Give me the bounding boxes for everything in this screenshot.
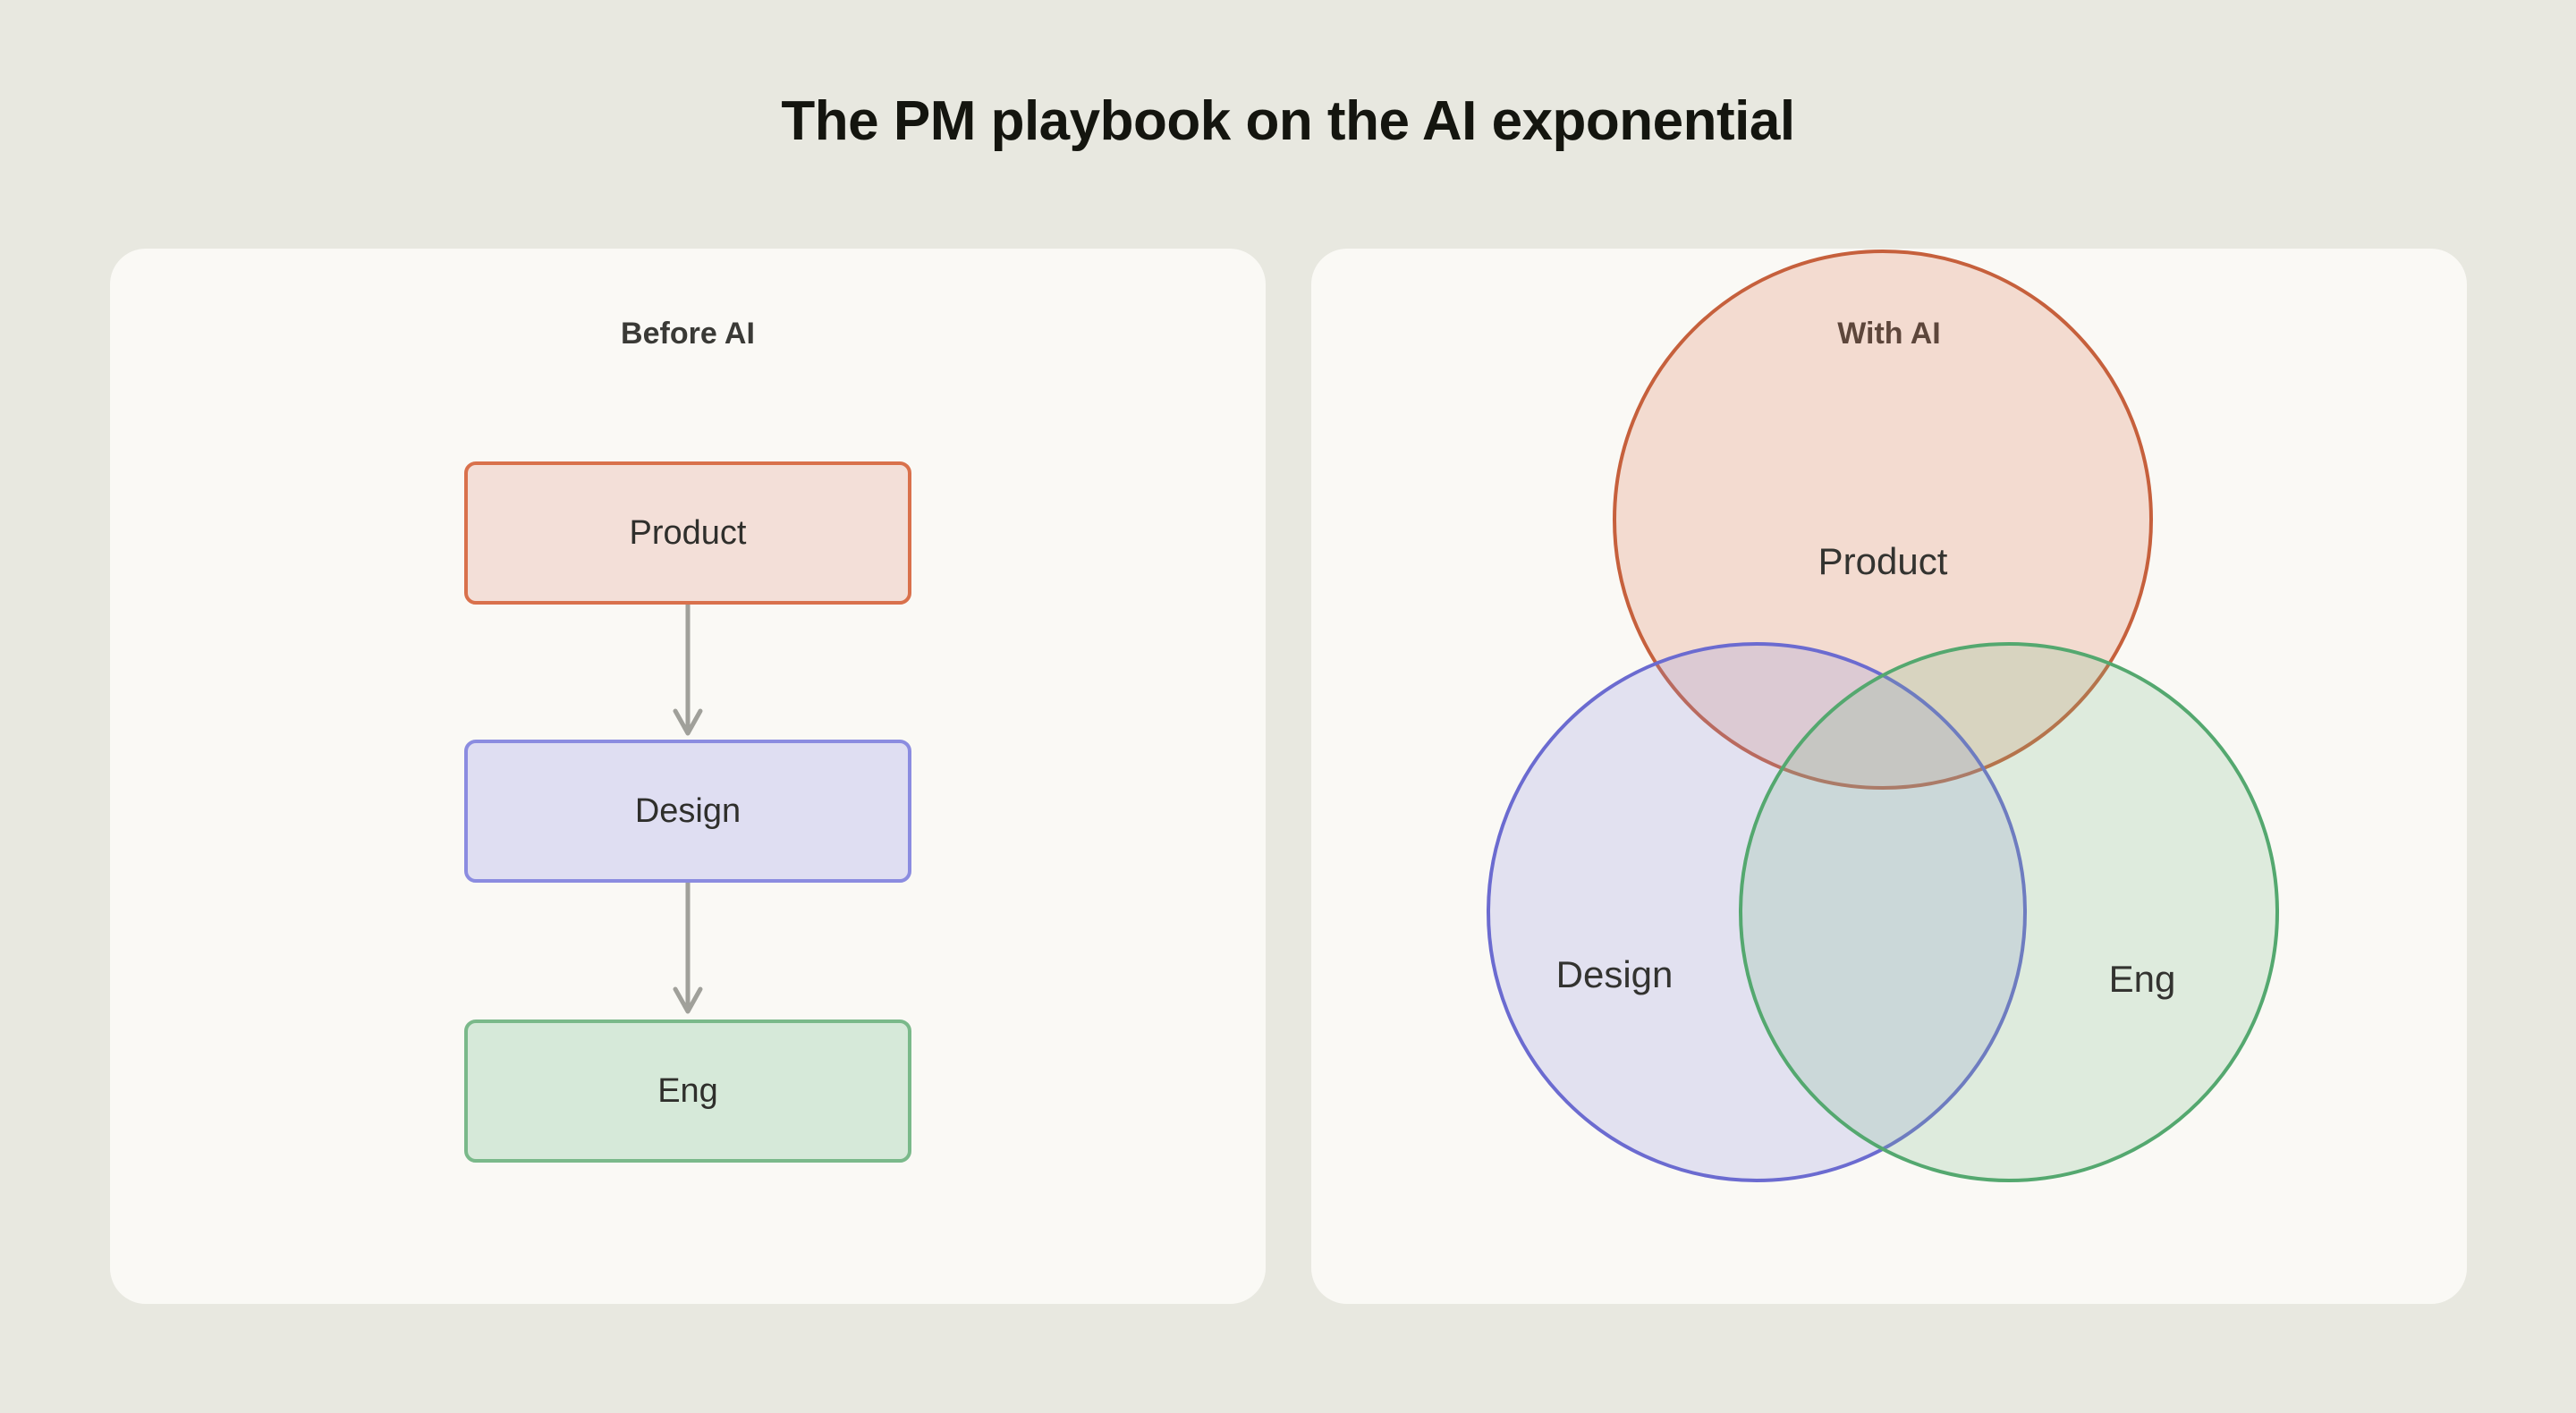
panel-with-ai: With AI Product Design Eng <box>1311 249 2467 1304</box>
flow-arrow-product-to-design <box>671 605 705 740</box>
venn-circle-eng[interactable] <box>1741 644 2277 1180</box>
flow-node-design[interactable]: Design <box>464 740 911 883</box>
page-title: The PM playbook on the AI exponential <box>0 94 2576 149</box>
flow-node-product-label: Product <box>630 514 747 553</box>
panel-title-before-ai: Before AI <box>110 318 1266 349</box>
flow-node-eng[interactable]: Eng <box>464 1020 911 1163</box>
flow-diagram: Product Design Eng <box>464 461 911 1186</box>
panel-before-ai: Before AI Product Design Eng <box>110 249 1266 1304</box>
flow-node-product[interactable]: Product <box>464 461 911 605</box>
venn-diagram <box>1311 249 2467 1304</box>
flow-arrow-design-to-eng <box>671 883 705 1018</box>
flow-node-eng-label: Eng <box>657 1072 718 1111</box>
flow-node-design-label: Design <box>635 792 741 831</box>
